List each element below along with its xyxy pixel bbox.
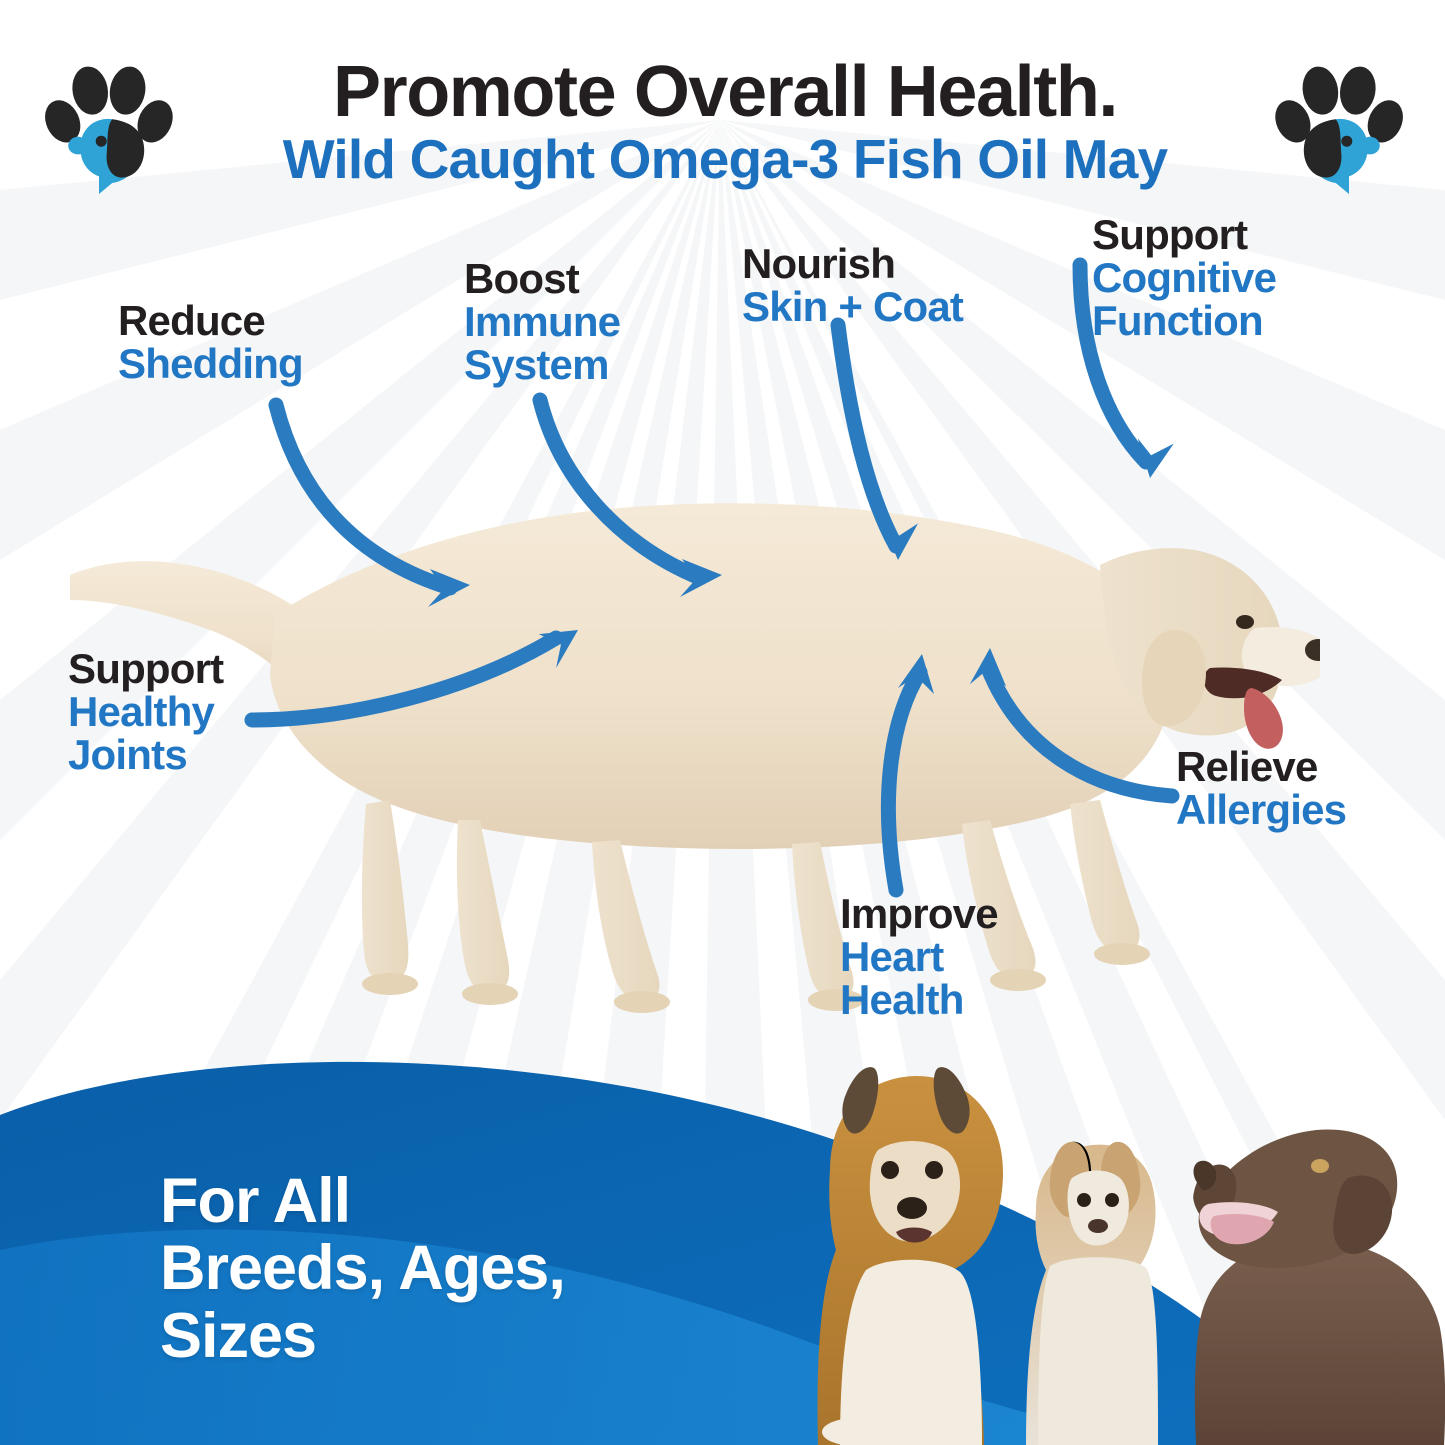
small-terrier [1026,1142,1158,1445]
benefit-boost-immune: Boost Immune System [464,258,620,386]
banner-headline: For All Breeds, Ages, Sizes [160,1168,780,1370]
banner-line-3: Sizes [160,1303,780,1370]
benefit-title: Reduce [118,300,303,343]
benefit-title: Support [68,648,223,691]
paw-print-dog-logo-icon [1272,62,1404,194]
benefit-subtitle: Heart Health [840,936,998,1022]
headline-secondary: Wild Caught Omega-3 Fish Oil May [190,131,1260,189]
infographic-root: Promote Overall Health. Wild Caught Omeg… [0,0,1445,1445]
benefit-improve-heart: Improve Heart Health [840,893,998,1021]
benefit-subtitle: Cognitive Function [1092,257,1276,343]
banner-line-2: Breeds, Ages, [160,1235,780,1302]
bottom-dogs-group-image [800,1060,1445,1445]
benefit-title: Nourish [742,243,963,286]
headline-primary: Promote Overall Health. [190,58,1260,127]
benefit-subtitle: Healthy Joints [68,691,223,777]
golden-retriever-image [60,400,1320,1040]
benefit-title: Boost [464,258,620,301]
banner-line-1: For All [160,1168,780,1235]
header: Promote Overall Health. Wild Caught Omeg… [0,28,1445,188]
benefit-relieve-allergies: Relieve Allergies [1176,746,1346,832]
benefit-subtitle: Immune System [464,301,620,387]
paw-print-dog-logo-icon [44,62,176,194]
benefit-subtitle: Shedding [118,343,303,386]
brown-pointer [1193,1129,1445,1445]
benefit-support-cognitive: Support Cognitive Function [1092,214,1276,342]
benefit-nourish-skin-coat: Nourish Skin + Coat [742,243,963,329]
benefit-subtitle: Skin + Coat [742,286,963,329]
benefit-support-joints: Support Healthy Joints [68,648,223,776]
benefit-reduce-shedding: Reduce Shedding [118,300,303,386]
benefit-title: Relieve [1176,746,1346,789]
benefit-title: Support [1092,214,1276,257]
shetland-sheepdog [818,1067,1003,1445]
headline-block: Promote Overall Health. Wild Caught Omeg… [190,58,1260,189]
benefit-title: Improve [840,893,998,936]
benefit-subtitle: Allergies [1176,789,1346,832]
